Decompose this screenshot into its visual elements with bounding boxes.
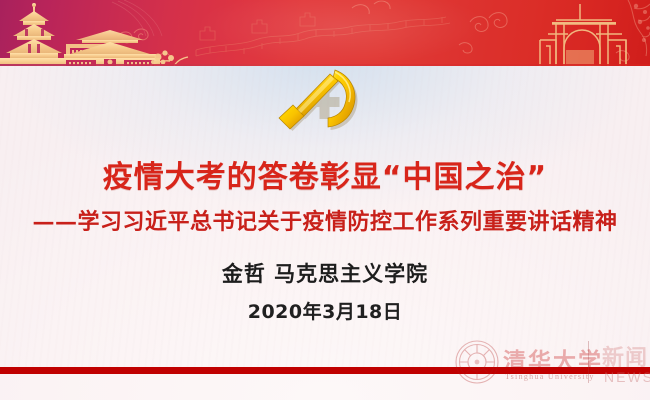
presentation-slide: 疫情大考的答卷彰显“中国之治” ——学习习近平总书记关于疫情防控工作系列重要讲话… bbox=[0, 0, 650, 400]
watermark-channel-en: NEWS bbox=[604, 369, 650, 385]
header-illustration bbox=[0, 0, 650, 66]
watermark-channel-cn: 新闻 bbox=[602, 340, 648, 372]
tsinghua-seal-icon bbox=[455, 340, 499, 384]
decorative-header-banner bbox=[0, 0, 650, 66]
cpc-hammer-sickle-emblem bbox=[274, 64, 376, 136]
page-title: 疫情大考的答卷彰显“中国之治” bbox=[0, 152, 650, 196]
watermark-divider bbox=[588, 341, 589, 383]
speaker-line: 金哲 马克思主义学院 bbox=[0, 258, 650, 288]
tsinghua-news-watermark: 清华大学 Tsinghua University 新闻 NEWS bbox=[455, 336, 650, 388]
page-subtitle: ——学习习近平总书记关于疫情防控工作系列重要讲话精神 bbox=[0, 204, 650, 236]
great-wall-icon bbox=[196, 13, 450, 56]
talk-date: 2020年3月18日 bbox=[0, 297, 650, 324]
watermark-university-en: Tsinghua University bbox=[505, 372, 595, 381]
